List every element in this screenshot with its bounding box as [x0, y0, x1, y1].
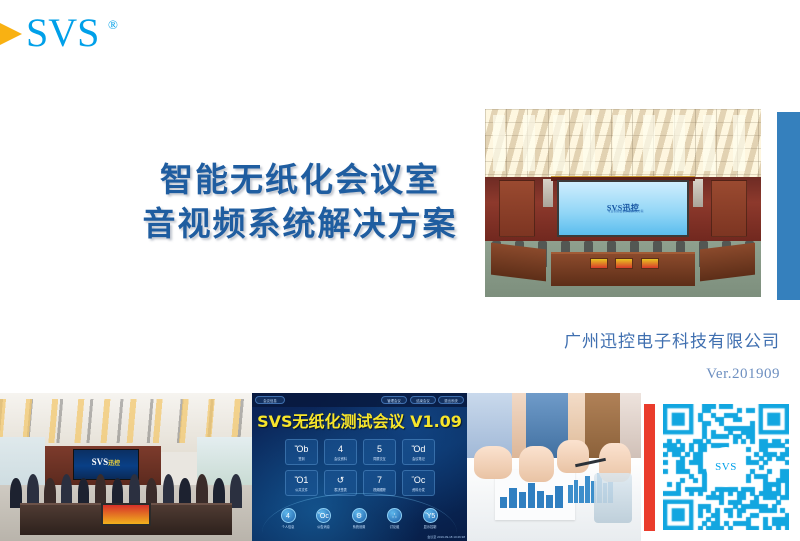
- conference-room-render: SVS迅控 专业视频会议系统解决方案: [484, 108, 762, 298]
- brand-logo: SVS ®: [0, 13, 150, 55]
- tile-label: 会议笔记: [412, 456, 425, 461]
- qr-center-logo: SVS: [706, 447, 746, 487]
- door-left: [499, 180, 535, 236]
- play-triangle-icon: [0, 23, 22, 45]
- dock-personal-info[interactable]: ὆4 个人信息: [274, 508, 302, 529]
- dock-label: 系统设置: [345, 524, 373, 529]
- title-line-2: 音视频系统解决方案: [120, 202, 480, 246]
- screen-tagline: 专业视频会议系统解决方案: [608, 209, 644, 213]
- hand: [474, 446, 512, 479]
- tile-video-tracking[interactable]: ὏7 视频跟踪: [363, 470, 396, 496]
- person-icon: ὆4: [281, 508, 296, 523]
- bar-chart-graphic: [500, 479, 563, 509]
- exit-system-button[interactable]: 退出系统: [438, 396, 464, 404]
- tile-public-files[interactable]: Ὄ1 公共文件: [285, 470, 318, 496]
- dock-announcements[interactable]: Ὂc 公告消息: [310, 508, 338, 529]
- tile-sign-in[interactable]: Ὄb 签到: [285, 439, 318, 465]
- speaker-left: [543, 179, 553, 207]
- end-meeting-button[interactable]: 结束会议: [410, 396, 436, 404]
- screen-brand-text: SVS迅控: [92, 457, 121, 467]
- slide-canvas: SVS ® 智能无纸化会议室 音视频系统解决方案 SVS迅控 专业视频会议系统解…: [0, 0, 800, 541]
- tile-label: 公共文件: [295, 487, 308, 492]
- briefcase-icon: Ὃc: [412, 475, 426, 486]
- document-upload-icon: ὎4: [338, 444, 343, 455]
- dock-display-control[interactable]: Ὓ5 显示控制: [416, 508, 444, 529]
- screen-brand-cn: 迅控: [108, 461, 120, 467]
- network-icon: ∴: [387, 508, 402, 523]
- desk-flag: [590, 258, 608, 269]
- qr-center-text: SVS: [715, 461, 737, 473]
- title-line-1: 智能无纸化会议室: [120, 158, 480, 202]
- app-tile-grid: Ὄb 签到 ὎4 会议资料 ὚5 同屏交互 Ὅd 会议笔记 Ὄ1 公共文件: [285, 439, 435, 496]
- desk-flags: [590, 258, 659, 269]
- dock-label: 公告消息: [310, 524, 338, 529]
- tile-label: 签到: [298, 456, 304, 461]
- tile-label: 表决签表: [334, 487, 347, 492]
- accent-bar: [777, 112, 800, 300]
- manage-meeting-button[interactable]: 管理会议: [381, 396, 407, 404]
- registered-trademark-icon: ®: [108, 17, 118, 33]
- qr-code[interactable]: SVS: [663, 404, 789, 530]
- dock-label: 讨论组: [381, 524, 409, 529]
- tile-screen-share[interactable]: ὚5 同屏交互: [363, 439, 396, 465]
- door-right: [711, 180, 747, 236]
- tile-label: 会议资料: [334, 456, 347, 461]
- dock-label: 个人信息: [274, 524, 302, 529]
- app-dock: ὆4 个人信息 Ὂc 公告消息 ⚙ 系统设置 ∴ 讨论组 Ὓ5 显示控制: [274, 508, 444, 529]
- paperless-software-screenshot: 会议信息 管理会议 结束会议 退出系统 SVS无纸化测试会议 V1.09 Ὄb …: [252, 393, 467, 541]
- tile-meeting-notes[interactable]: Ὅd 会议笔记: [402, 439, 435, 465]
- hand: [557, 440, 588, 473]
- qr-code-panel: SVS: [641, 393, 800, 541]
- led-screen: SVS迅控 专业视频会议系统解决方案: [557, 180, 689, 236]
- attendee: [230, 474, 242, 509]
- ceiling-lights: [493, 115, 752, 171]
- dock-discussion-group[interactable]: ∴ 讨论组: [381, 508, 409, 529]
- message-icon: Ὂc: [316, 508, 331, 523]
- display-icon: Ὓ5: [423, 508, 438, 523]
- tile-label: 同屏交互: [373, 456, 386, 461]
- red-accent-bar: [644, 404, 655, 531]
- water-glass: [594, 473, 632, 523]
- speaker-right: [693, 179, 703, 207]
- tile-file-distribution[interactable]: Ὃc 资料分发: [402, 470, 435, 496]
- company-name: 广州迅控电子科技有限公司: [390, 330, 780, 354]
- page-title: 智能无纸化会议室 音视频系统解决方案: [120, 158, 480, 246]
- app-title: SVS无纸化测试会议 V1.09: [252, 408, 467, 432]
- screen-share-icon: ὚5: [377, 444, 382, 455]
- clipboard-icon: Ὄb: [295, 444, 309, 455]
- company-block: 广州迅控电子科技有限公司 Ver.201909: [390, 330, 780, 386]
- vote-icon: ↺: [337, 475, 345, 486]
- version-label: Ver.201909: [390, 362, 780, 386]
- folder-icon: Ὄ1: [295, 475, 309, 486]
- desk-flag: [615, 258, 633, 269]
- dock-settings[interactable]: ⚙ 系统设置: [345, 508, 373, 529]
- meeting-info-pill[interactable]: 会议信息: [255, 396, 285, 404]
- desk-display: [101, 503, 151, 527]
- note-icon: Ὅd: [412, 444, 426, 455]
- meeting-room-photo: SVS迅控: [0, 393, 252, 541]
- desk-flag: [641, 258, 659, 269]
- bottom-image-strip: SVS迅控: [0, 393, 800, 541]
- tile-meeting-materials[interactable]: ὎4 会议资料: [324, 439, 357, 465]
- hand: [519, 446, 554, 482]
- tile-label: 视频跟踪: [373, 487, 386, 492]
- logo-text: SVS: [26, 13, 99, 53]
- tile-label: 资料分发: [412, 487, 425, 492]
- dock-label: 显示控制: [416, 524, 444, 529]
- camera-icon: ὏7: [377, 475, 382, 486]
- app-status-bar: 会议室 2019-09-18 10:26:38: [427, 535, 465, 539]
- settings-icon: ⚙: [352, 508, 367, 523]
- screen-brand: SVS: [92, 457, 109, 467]
- team-discussion-photo: [467, 393, 641, 541]
